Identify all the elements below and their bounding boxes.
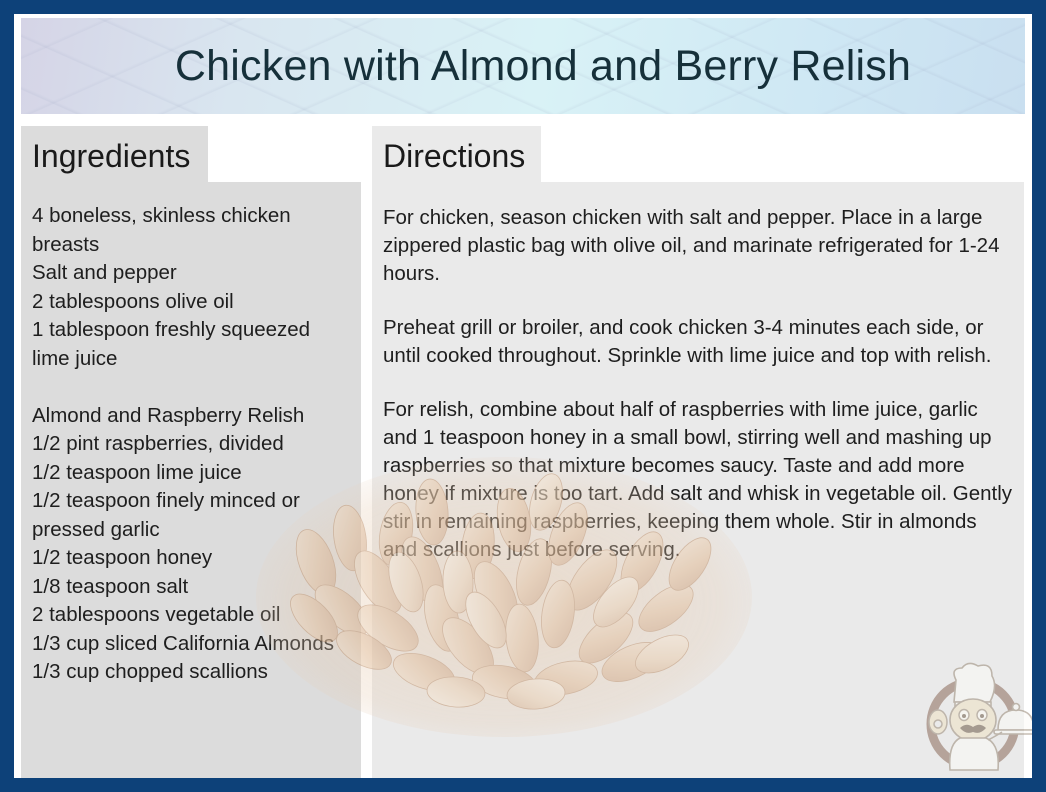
page-title: Chicken with Almond and Berry Relish — [135, 42, 911, 91]
direction-paragraph: For chicken, season chicken with salt an… — [383, 204, 1013, 288]
ingredients-spacer — [32, 373, 362, 402]
chef-face-icon — [950, 699, 996, 741]
ingredient-line: Almond and Raspberry Relish — [32, 402, 362, 431]
ingredient-line: 1/2 pint raspberries, divided — [32, 430, 362, 459]
chef-mascot-logo — [916, 662, 1032, 778]
directions-text: For chicken, season chicken with salt an… — [383, 204, 1013, 590]
ingredient-line: 1/2 teaspoon honey — [32, 544, 362, 573]
slide-inner: Chicken with Almond and Berry Relish Ing… — [14, 14, 1032, 778]
chef-body-icon — [950, 738, 999, 770]
ingredient-line: 1/2 teaspoon finely minced or — [32, 487, 362, 516]
ingredient-line: 4 boneless, skinless chicken — [32, 202, 362, 231]
cloche-icon — [994, 704, 1032, 735]
ingredient-line: Salt and pepper — [32, 259, 362, 288]
ingredient-line: pressed garlic — [32, 516, 362, 545]
ingredient-line: 1 tablespoon freshly squeezed — [32, 316, 362, 345]
ingredient-line: 1/3 cup sliced California Almonds — [32, 630, 362, 659]
direction-paragraph: For relish, combine about half of raspbe… — [383, 396, 1013, 564]
ingredient-line: 2 tablespoons vegetable oil — [32, 601, 362, 630]
direction-paragraph: Preheat grill or broiler, and cook chick… — [383, 314, 1013, 370]
chef-hand-ok-icon — [929, 710, 947, 734]
ingredient-line: lime juice — [32, 345, 362, 374]
recipe-slide: Chicken with Almond and Berry Relish Ing… — [0, 0, 1046, 792]
title-banner: Chicken with Almond and Berry Relish — [21, 18, 1025, 114]
directions-heading: Directions — [383, 136, 525, 176]
ingredients-list: 4 boneless, skinless chickenbreastsSalt … — [32, 202, 362, 687]
ingredients-heading: Ingredients — [32, 136, 190, 176]
ingredient-line: 1/2 teaspoon lime juice — [32, 459, 362, 488]
ingredient-line: 2 tablespoons olive oil — [32, 288, 362, 317]
ingredient-line: 1/8 teaspoon salt — [32, 573, 362, 602]
ingredient-line: 1/3 cup chopped scallions — [32, 658, 362, 687]
ingredient-line: breasts — [32, 231, 362, 260]
